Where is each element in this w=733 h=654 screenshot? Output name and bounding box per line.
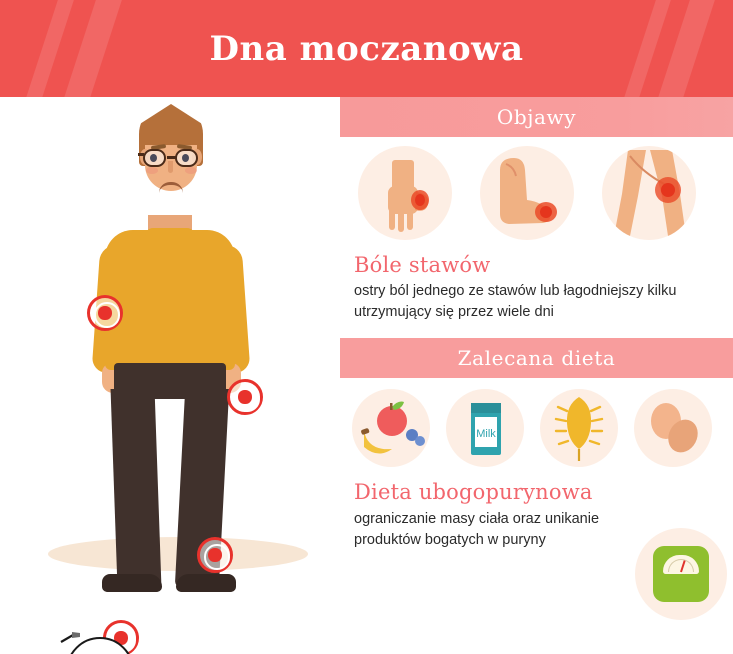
cheek-right xyxy=(185,167,197,174)
leg-left xyxy=(111,389,162,587)
diet-title: Dieta ubogopurynowa xyxy=(354,480,719,504)
site-logo[interactable]: Dietetycy.org.pl xyxy=(24,637,204,654)
poland-map-outline xyxy=(77,650,125,654)
illustration-panel: Dietetycy.org.pl xyxy=(0,97,340,654)
content-panel: Objawy xyxy=(340,97,733,654)
knee-joint-pain-icon xyxy=(602,146,696,240)
person-illustration xyxy=(0,97,340,597)
fork-icon xyxy=(60,631,82,645)
pain-marker-knee xyxy=(197,537,233,573)
cheek-left xyxy=(146,167,158,174)
symptom-title: Bóle stawów xyxy=(354,253,719,277)
shoe-left xyxy=(102,574,162,592)
shoe-right xyxy=(176,574,236,592)
diet-body: ograniczanie masy ciała oraz unikanie pr… xyxy=(354,509,634,550)
hand-glyph xyxy=(358,146,452,240)
fruits-icon xyxy=(352,389,430,467)
sweater-collar xyxy=(145,228,195,244)
grain-wheat-icon xyxy=(540,389,618,467)
hand-joint-pain-icon xyxy=(358,146,452,240)
sweater xyxy=(105,230,235,370)
pain-marker-elbow xyxy=(87,295,123,331)
eggs-icon xyxy=(634,389,712,467)
foot-joint-pain-icon xyxy=(480,146,574,240)
symptom-text-block: Bóle stawów ostry ból jednego ze stawów … xyxy=(340,249,733,322)
knee-glyph xyxy=(602,146,696,240)
infographic-page: Dna moczanowa xyxy=(0,0,733,654)
milk-glyph: Milk xyxy=(446,389,524,467)
milk-carton-icon: Milk xyxy=(446,389,524,467)
header-banner: Dna moczanowa xyxy=(0,0,733,97)
section-bar-objawy: Objawy xyxy=(340,97,733,137)
page-title: Dna moczanowa xyxy=(0,0,733,97)
grain-glyph xyxy=(540,389,618,467)
scale-body xyxy=(653,546,709,602)
fruits-glyph xyxy=(352,389,430,467)
diet-icon-row: Milk xyxy=(340,378,733,478)
svg-text:Milk: Milk xyxy=(476,428,496,440)
bathroom-scale-icon xyxy=(635,528,727,620)
foot-glyph xyxy=(480,146,574,240)
section-bar-dieta: Zalecana dieta xyxy=(340,338,733,378)
pain-marker-wrist xyxy=(227,379,263,415)
hips xyxy=(114,363,226,399)
section-bar-label: Objawy xyxy=(497,105,576,129)
eggs-glyph xyxy=(634,389,712,467)
eye-right xyxy=(182,154,189,162)
nose xyxy=(168,161,173,173)
symptom-body: ostry ból jednego ze stawów lub łagodnie… xyxy=(354,281,719,322)
eye-left xyxy=(150,154,157,162)
glasses-temple xyxy=(138,153,144,156)
scale-dial xyxy=(663,555,699,574)
section-bar-label: Zalecana dieta xyxy=(458,346,616,370)
glasses-bridge xyxy=(167,156,176,159)
symptom-icon-row xyxy=(340,137,733,249)
